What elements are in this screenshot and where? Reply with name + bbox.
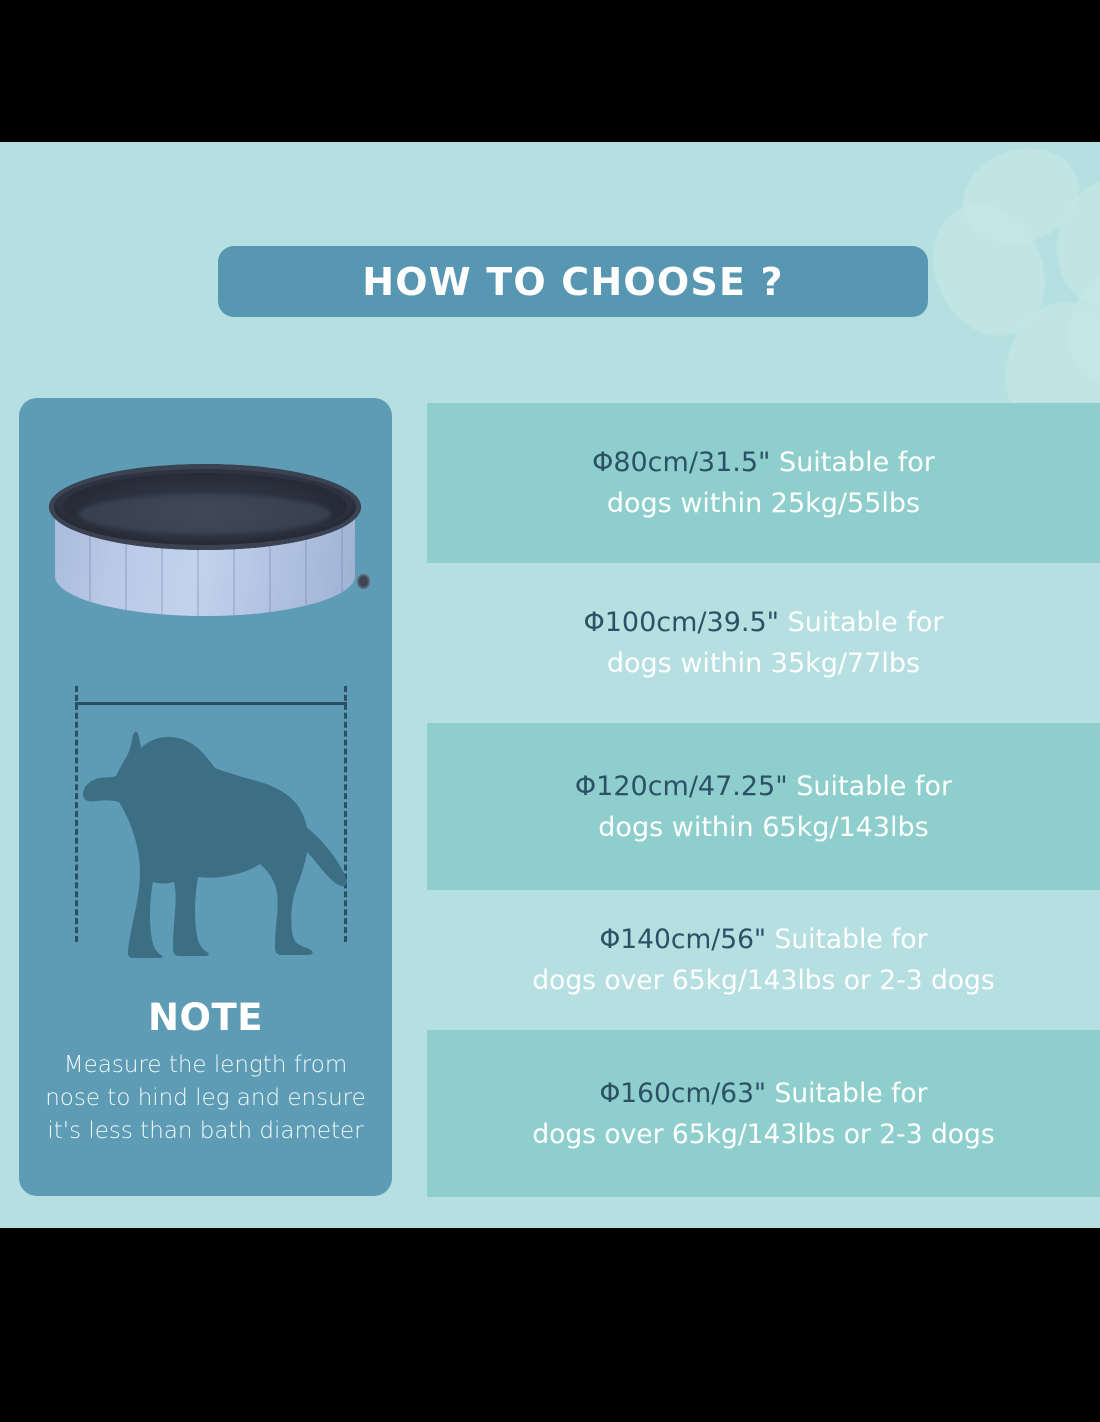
size-desc-line1: Suitable for (788, 771, 952, 802)
note-block: NOTE Measure the length from nose to hin… (19, 996, 392, 1148)
size-dimension: Φ120cm/47.25" (575, 771, 788, 802)
size-row-text: Φ80cm/31.5" Suitable for dogs within 25k… (586, 442, 941, 524)
pool-rim-edge (49, 464, 361, 550)
size-dimension: Φ100cm/39.5" (583, 607, 779, 638)
size-row[interactable]: Φ160cm/63" Suitable for dogs over 65kg/1… (427, 1030, 1100, 1197)
size-dimension: Φ140cm/56" (599, 924, 766, 955)
page-title: HOW TO CHOOSE ? (362, 260, 784, 304)
size-row[interactable]: Φ140cm/56" Suitable for dogs over 65kg/1… (427, 890, 1100, 1030)
note-title: NOTE (33, 996, 378, 1039)
size-desc-line2: dogs within 65kg/143lbs (598, 812, 928, 843)
size-desc-line2: dogs within 35kg/77lbs (607, 648, 920, 679)
size-desc-line2: dogs over 65kg/143lbs or 2-3 dogs (532, 965, 994, 996)
left-illustration-panel: NOTE Measure the length from nose to hin… (19, 398, 392, 1196)
size-dimension: Φ80cm/31.5" (592, 447, 770, 478)
content-panel: HOW TO CHOOSE ? (0, 142, 1100, 1228)
size-guide-list: Φ80cm/31.5" Suitable for dogs within 25k… (427, 400, 1100, 1210)
size-row-text: Φ160cm/63" Suitable for dogs over 65kg/1… (526, 1073, 1000, 1155)
size-desc-line2: dogs within 25kg/55lbs (607, 488, 920, 519)
size-row[interactable]: Φ80cm/31.5" Suitable for dogs within 25k… (427, 403, 1100, 563)
size-dimension: Φ160cm/63" (599, 1078, 766, 1109)
page-root: HOW TO CHOOSE ? (0, 0, 1100, 1422)
size-row[interactable]: Φ100cm/39.5" Suitable for dogs within 35… (427, 563, 1100, 723)
size-row-text: Φ140cm/56" Suitable for dogs over 65kg/1… (526, 919, 1000, 1001)
note-body: Measure the length from nose to hind leg… (33, 1049, 378, 1148)
pool-drain-valve (357, 574, 370, 589)
size-desc-line2: dogs over 65kg/143lbs or 2-3 dogs (532, 1119, 994, 1150)
size-desc-line1: Suitable for (766, 1078, 927, 1109)
dog-silhouette-icon (67, 698, 369, 958)
size-desc-line1: Suitable for (770, 447, 934, 478)
size-row-text: Φ120cm/47.25" Suitable for dogs within 6… (569, 766, 958, 848)
page-title-pill: HOW TO CHOOSE ? (218, 246, 928, 317)
size-desc-line1: Suitable for (779, 607, 943, 638)
size-row-text: Φ100cm/39.5" Suitable for dogs within 35… (577, 602, 949, 684)
size-row[interactable]: Φ120cm/47.25" Suitable for dogs within 6… (427, 723, 1100, 890)
size-desc-line1: Suitable for (766, 924, 927, 955)
dog-pool-image (19, 416, 392, 666)
